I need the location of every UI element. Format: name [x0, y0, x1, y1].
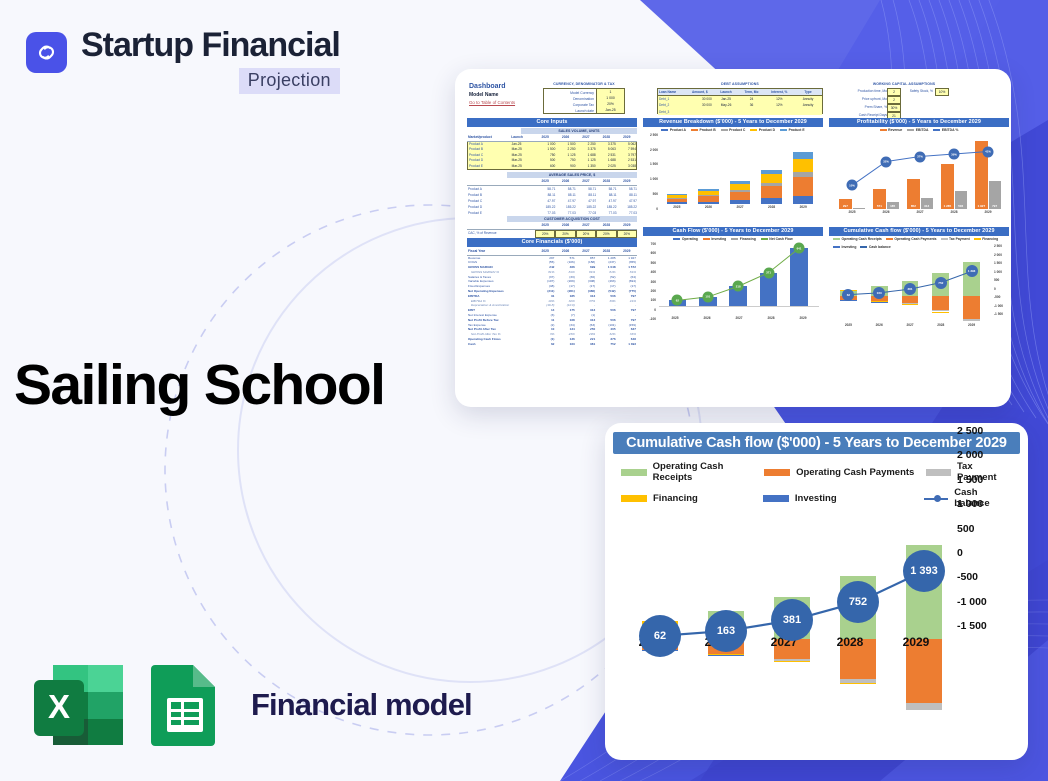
- ytick: 1 000: [994, 271, 1010, 274]
- cumulative-mini-yaxis: 2 5002 0001 5001 0005000-500-1 000-1 500: [994, 245, 1010, 322]
- ytick: -500: [994, 296, 1010, 299]
- working-capital-table[interactable]: Production time, Mo 2 Safety Stock, % 10…: [835, 88, 955, 120]
- cash-flow-yaxis: 7006005004003002001000-100: [642, 243, 656, 328]
- cash-flow-title: Cash Flow ($'000) - 5 Years to December …: [643, 227, 823, 236]
- legend-label: Product E: [789, 128, 805, 132]
- legend-label: Product A: [670, 128, 686, 132]
- debt-cell: 36: [738, 102, 764, 108]
- bar-segment: [793, 196, 814, 204]
- cf-col: 2025: [535, 249, 555, 255]
- ytick: 700: [642, 243, 656, 246]
- dashboard-sheet: Dashboard Model Name Go to Table of Cont…: [461, 77, 1005, 399]
- data-point-marker: 32%: [881, 156, 892, 167]
- bar-segment: [793, 159, 814, 172]
- ytick: 500: [957, 523, 975, 535]
- currency-box-title: CURRENCY, DENOMINATOR & TAX: [541, 82, 627, 86]
- wc-extra-label: Safety Stock, %: [901, 88, 933, 96]
- data-point-marker: 62: [672, 295, 683, 306]
- revenue-breakdown-yaxis: 2 500 2 000 1 500 1 000 500 0: [642, 134, 658, 211]
- ytick: 2 000: [957, 449, 983, 461]
- dashboard-heading: Dashboard: [469, 83, 506, 90]
- data-point-marker: 381: [771, 599, 813, 641]
- sv-cell: 600: [535, 164, 555, 170]
- legend-label: Product C: [729, 128, 745, 132]
- wc-label: Production time, Mo: [835, 88, 887, 96]
- bar-group: [793, 134, 814, 204]
- cac-caption: CUSTOMER ACQUISITION COST: [507, 216, 637, 222]
- table-row[interactable]: Production time, Mo 2 Safety Stock, % 10…: [835, 88, 955, 96]
- cf-cell: 752: [596, 342, 616, 347]
- xtick: 2028: [943, 210, 965, 214]
- debt-cell: Debt_3: [658, 109, 686, 115]
- legend-label: Financing: [740, 237, 756, 241]
- legend-label: EBITDA %: [942, 128, 958, 132]
- ytick: 2 000: [994, 254, 1010, 257]
- cf-col: 2027: [576, 249, 596, 255]
- core-financials-bar: Core Financials ($'000): [467, 238, 637, 247]
- debt-col-1: Amount, $: [686, 89, 714, 95]
- infinity-loop-icon: [34, 40, 59, 65]
- ytick: -1 500: [957, 620, 987, 632]
- revenue-breakdown-title: Revenue Breakdown ($'000) - 5 Years to D…: [643, 118, 823, 127]
- legend-label: Operating: [682, 237, 698, 241]
- ytick: 2 500: [642, 134, 658, 137]
- ytick: 500: [642, 262, 656, 265]
- sv-col: Market/product: [467, 135, 511, 141]
- xtick: 2028: [761, 205, 782, 209]
- debt-assumptions-table[interactable]: Loan Name Amount, $ Launch Term, Mo Inte…: [657, 88, 823, 114]
- xtick: 2029: [793, 316, 814, 320]
- data-point-marker: 163: [705, 610, 747, 652]
- legend-label: Operating Cash Receipts: [842, 237, 882, 241]
- table-row[interactable]: Debt_3: [658, 109, 822, 115]
- bar-group: [698, 134, 719, 204]
- sv-cell: 1 350: [576, 164, 596, 170]
- xtick: 2028: [761, 316, 782, 320]
- xtick: 2026: [697, 316, 718, 320]
- legend-label: Investing: [795, 493, 837, 504]
- ytick: 0: [957, 547, 963, 559]
- ytick: 100: [642, 299, 656, 302]
- xtick: 2026: [869, 323, 889, 327]
- sv-col: Launch: [511, 135, 535, 141]
- ap-col: 2026: [555, 179, 575, 185]
- debt-cell: Annuity: [794, 102, 822, 108]
- cac-col: 2029: [617, 223, 637, 229]
- file-type-label: Financial model: [251, 687, 472, 723]
- cf-col: 2029: [617, 249, 637, 255]
- cac-cell[interactable]: 20%: [555, 230, 575, 239]
- revenue-breakdown-xaxis: 20252026202720282029: [661, 205, 819, 209]
- legend-label: Investing: [842, 245, 857, 249]
- core-inputs-bar: Core Inputs: [467, 118, 637, 127]
- excel-file-icon: X: [31, 662, 127, 748]
- data-point-marker: 62: [639, 615, 681, 657]
- xtick: 2027: [900, 323, 920, 327]
- data-point-marker: 37%: [915, 151, 926, 162]
- debt-box-title: DEBT ASSUMPTIONS: [657, 82, 823, 86]
- avg-price-table[interactable]: 2025 2026 2027 2028 2029 Product A 58.71…: [467, 179, 637, 217]
- cumulative-cash-flow-yaxis: 2 5002 0001 5001 0005000-500-1 000-1 500: [957, 431, 1009, 626]
- xtick: 2026: [875, 210, 897, 214]
- wc-value[interactable]: 2: [887, 88, 901, 96]
- xtick: 2027: [909, 210, 931, 214]
- ytick: -1 000: [957, 596, 987, 608]
- ytick: 300: [642, 281, 656, 284]
- xtick: 2025: [838, 323, 858, 327]
- revenue-breakdown-plot: [661, 134, 819, 204]
- cash-flow-plot: 62101218371641: [659, 243, 819, 315]
- sv-cell: Product E: [468, 164, 512, 170]
- cf-cell: Cash: [467, 342, 535, 347]
- xtick: 2027: [729, 316, 750, 320]
- wc-box-title: WORKING CAPITAL ASSUMPTIONS: [839, 82, 969, 86]
- cac-cell[interactable]: 20%: [617, 230, 637, 239]
- debt-col-4: Interest, %: [765, 89, 795, 95]
- cf-cell: 381: [576, 342, 596, 347]
- brand-title: Startup Financial: [81, 28, 340, 64]
- dashboard-preview-card[interactable]: Dashboard Model Name Go to Table of Cont…: [455, 69, 1011, 407]
- toc-link[interactable]: Go to Table of Contents: [469, 100, 515, 105]
- xtick: 2025: [841, 210, 863, 214]
- ytick: 600: [642, 252, 656, 255]
- data-point-marker: 41%: [983, 146, 994, 157]
- logo-mark: [26, 32, 67, 73]
- ytick: 0: [642, 309, 656, 312]
- sv-col: 2026: [555, 135, 575, 141]
- ytick: 2 500: [994, 245, 1010, 248]
- legend-label: EBITDA: [916, 128, 929, 132]
- xtick: 2029: [886, 635, 945, 649]
- legend-label: Tax Payment: [949, 237, 970, 241]
- page-title: Sailing School: [14, 352, 384, 418]
- ytick: 1 500: [642, 163, 658, 166]
- bar-group: [667, 134, 688, 204]
- revenue-breakdown-legend: Product A Product B Product C Product D …: [643, 128, 823, 132]
- table-row[interactable]: CAC, % of Revenue 20% 20% 20% 20% 20%: [467, 230, 637, 239]
- profitability-title: Profitability ($'000) - 5 Years to Decem…: [829, 118, 1009, 127]
- data-point-marker: 218: [733, 281, 744, 292]
- cac-col: 2028: [596, 223, 616, 229]
- legend-label: Product B: [699, 128, 715, 132]
- cf-col: 2028: [596, 249, 616, 255]
- xtick: 2025: [667, 205, 688, 209]
- xtick: 2029: [793, 205, 814, 209]
- ap-col: 2028: [596, 179, 616, 185]
- data-point-marker: 752: [935, 277, 947, 289]
- data-point-marker: 163: [873, 287, 885, 299]
- debt-cell: 30 000: [686, 102, 714, 108]
- cumulative-mini-xaxis: 20252026202720282029: [833, 323, 987, 327]
- cash-flow-chart[interactable]: Cash Flow ($'000) - 5 Years to December …: [643, 227, 823, 337]
- sv-col: 2025: [535, 135, 555, 141]
- bar-group: [730, 134, 751, 204]
- data-point-marker: 381: [904, 283, 916, 295]
- profitability-xaxis: 20252026202720282029: [835, 210, 1005, 214]
- brand-subtitle: Projection: [239, 68, 340, 94]
- ytick: 400: [642, 271, 656, 274]
- currency-row-label-3: Launch date: [570, 108, 594, 114]
- wc-label: Prem Share, %: [835, 104, 887, 112]
- ytick: 1 500: [994, 262, 1010, 265]
- cac-cell[interactable]: 20%: [596, 230, 616, 239]
- bar-segment: [761, 174, 782, 183]
- avg-price-caption: AVERAGE SALES PRICE, $: [507, 172, 637, 178]
- profitability-chart[interactable]: Profitability ($'000) - 5 Years to Decem…: [829, 118, 1009, 223]
- cf-cell: 62: [535, 342, 555, 347]
- xtick: 2026: [698, 205, 719, 209]
- cac-col: 2027: [576, 223, 596, 229]
- bar-segment: [761, 186, 782, 198]
- table-row[interactable]: Cash621633817521 393: [467, 342, 637, 347]
- wc-value[interactable]: 2: [887, 96, 901, 104]
- bar-segment: [793, 177, 814, 196]
- sv-col: 2028: [596, 135, 616, 141]
- xtick: 2029: [962, 323, 982, 327]
- legend-label: Financing: [982, 237, 998, 241]
- cumulative-cash-flow-title: Cumulative Cash flow ($'000) - 5 Years t…: [829, 227, 1009, 236]
- ytick: 2 000: [642, 149, 658, 152]
- data-point-marker: 39%: [949, 149, 960, 160]
- ytick: 500: [642, 193, 658, 196]
- legend-label: Financing: [653, 493, 698, 504]
- cumulative-cash-flow-legend: Operating Cash Receipts Operating Cash P…: [829, 237, 1009, 249]
- cac-row-label: CAC, % of Revenue: [467, 230, 535, 239]
- legend-label: Operating Cash Payments: [894, 237, 936, 241]
- table-row[interactable]: Prem Share, % 30%: [835, 104, 955, 112]
- ytick: -100: [642, 318, 656, 321]
- debt-col-2: Launch: [714, 89, 739, 95]
- legend-label: Investing: [711, 237, 726, 241]
- wc-value[interactable]: 30%: [887, 104, 901, 112]
- ytick: -1 000: [994, 305, 1010, 308]
- xtick: 2028: [820, 635, 879, 649]
- svg-text:X: X: [48, 688, 70, 725]
- data-point-marker: 101: [702, 291, 713, 302]
- legend-label: Product D: [759, 128, 775, 132]
- cf-col: Fiscal Year: [467, 249, 535, 255]
- debt-col-0: Loan Name: [658, 89, 686, 95]
- profitability-legend: Revenue EBITDA EBITDA %: [829, 128, 1009, 132]
- table-row[interactable]: Product E Mar-25 600 900 1 350 2 025 3 0…: [468, 164, 636, 170]
- cac-col: 2025: [535, 223, 555, 229]
- debt-cell: 12%: [765, 102, 795, 108]
- wc-extra-value[interactable]: 10%: [935, 88, 949, 96]
- cumulative-mini-plot: 621633817521 393: [833, 252, 987, 322]
- legend-label: Cash balance: [869, 245, 891, 249]
- bar-segment: [730, 200, 751, 204]
- sv-cell: Mar-25: [512, 164, 536, 170]
- data-point-marker: 1 393: [966, 265, 978, 277]
- sv-cell: 2 025: [596, 164, 616, 170]
- brand-lockup: Startup Financial Projection: [26, 28, 340, 94]
- google-sheets-file-icon: [147, 662, 223, 748]
- data-point-marker: 752: [837, 581, 879, 623]
- sv-cell: 900: [555, 164, 575, 170]
- ytick: 1 000: [642, 178, 658, 181]
- ytick: 500: [994, 279, 1010, 282]
- debt-cell: May-26: [714, 102, 739, 108]
- data-point-marker: 641: [794, 243, 805, 254]
- ytick: 1 500: [957, 474, 983, 486]
- cac-cell[interactable]: 20%: [576, 230, 596, 239]
- xtick: 2027: [730, 205, 751, 209]
- cac-table[interactable]: 2025 2026 2027 2028 2029 CAC, % of Reven…: [467, 223, 637, 238]
- bar-segment: [730, 192, 751, 200]
- cash-flow-xaxis: 20252026202720282029: [659, 316, 819, 320]
- cumulative-cash-flow-card[interactable]: Cumulative Cash flow ($'000) - 5 Years t…: [605, 423, 1028, 760]
- currency-row-value-3[interactable]: Jan-25: [597, 107, 624, 113]
- ytick: -500: [957, 571, 978, 583]
- cf-cell: 163: [555, 342, 575, 347]
- legend-label: Operating Cash Receipts: [653, 461, 764, 483]
- revenue-breakdown-chart[interactable]: Revenue Breakdown ($'000) - 5 Years to D…: [643, 118, 823, 223]
- ap-col: 2029: [617, 179, 637, 185]
- data-point-marker: 1 393: [903, 550, 945, 592]
- currency-box[interactable]: Model Currency Denomination Corporate Ta…: [543, 88, 625, 114]
- ap-col: 2027: [576, 179, 596, 185]
- sv-cell: 3 038: [616, 164, 636, 170]
- ytick: -1 500: [994, 313, 1010, 316]
- cumulative-cash-flow-mini-chart[interactable]: Cumulative Cash flow ($'000) - 5 Years t…: [829, 227, 1009, 337]
- sv-col: 2027: [576, 135, 596, 141]
- core-financials-table[interactable]: Fiscal Year20252026202720282029Revenue29…: [467, 249, 637, 347]
- wc-label: Price upfront, Mo: [835, 96, 887, 104]
- bar-segment: [761, 198, 782, 204]
- bar-segment: [698, 202, 719, 204]
- ytick: 0: [994, 288, 1010, 291]
- xtick: 2025: [665, 316, 686, 320]
- sv-col: 2029: [617, 135, 637, 141]
- debt-col-3: Term, Mo: [738, 89, 764, 95]
- table-row[interactable]: Price upfront, Mo 2: [835, 96, 955, 104]
- legend-label: Operating Cash Payments: [796, 467, 914, 478]
- file-type-group: X Financial model: [31, 662, 472, 748]
- ytick: 2 500: [957, 425, 983, 437]
- cac-cell[interactable]: 20%: [535, 230, 555, 239]
- model-name-label: Model Name: [469, 92, 498, 98]
- xtick: 2029: [977, 210, 999, 214]
- bar-segment: [667, 202, 688, 204]
- xtick: 2028: [931, 323, 951, 327]
- data-point-marker: 10%: [847, 180, 858, 191]
- data-point-marker: 62: [842, 289, 854, 301]
- cf-col: 2026: [555, 249, 575, 255]
- legend-label: Revenue: [888, 128, 902, 132]
- cash-flow-legend: Operating Investing Financing Net Cash F…: [643, 237, 823, 241]
- ytick: 200: [642, 290, 656, 293]
- data-point-marker: 371: [763, 267, 774, 278]
- cf-cell: 1 393: [617, 342, 637, 347]
- sales-volume-table[interactable]: Market/product Launch 2025 2026 2027 202…: [467, 135, 637, 170]
- bar-group: [761, 134, 782, 204]
- ytick: 1 000: [957, 498, 983, 510]
- ytick: 0: [642, 208, 658, 211]
- cac-col: 2026: [555, 223, 575, 229]
- ap-col: 2025: [535, 179, 555, 185]
- legend-label: Net Cash Flow: [769, 237, 792, 241]
- cumulative-cash-flow-plot: 621633817521 393: [627, 517, 957, 712]
- debt-col-5: Type: [794, 89, 822, 95]
- profitability-plot: 297315711858523131 2855061 92779710%32%3…: [835, 135, 1005, 209]
- sales-volume-caption: SALES VOLUME, UNITS: [521, 128, 637, 134]
